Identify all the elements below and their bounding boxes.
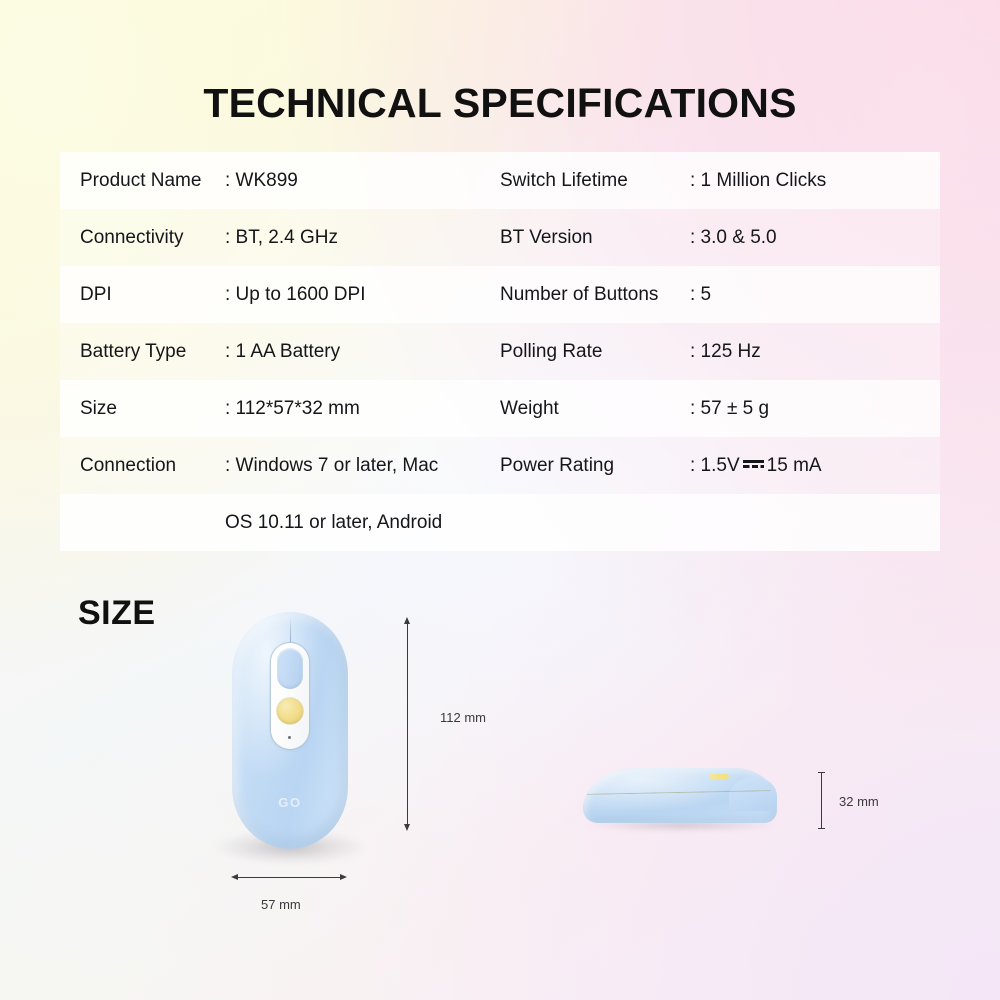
mouse-side-body [583, 768, 777, 823]
table-row: Size : 112*57*32 mm Weight : 57 ± 5 g [60, 380, 940, 437]
spec-value: : 57 ± 5 g [690, 398, 940, 420]
mouse-side-accent [709, 774, 729, 779]
spec-label: Size [60, 398, 225, 420]
table-row: Connection : Windows 7 or later, Mac Pow… [60, 437, 940, 494]
page-title: TECHNICAL SPECIFICATIONS [0, 80, 1000, 127]
dimension-arrow-right-icon [340, 874, 347, 880]
spec-label: Polling Rate [500, 341, 690, 363]
spec-label: Connectivity [60, 227, 225, 249]
dimension-cap-bottom-icon [818, 828, 825, 829]
mouse-scroll-wheel [277, 648, 303, 689]
power-rating-prefix: : 1.5V [690, 455, 740, 477]
dimension-line-depth [821, 773, 822, 828]
spec-value: : Windows 7 or later, Mac [225, 455, 500, 477]
spec-value-continuation: OS 10.11 or later, Android [225, 512, 500, 534]
mouse-top-body: GO [232, 612, 348, 849]
mouse-side-seam-line [587, 790, 771, 818]
spec-value: : BT, 2.4 GHz [225, 227, 500, 249]
dimension-cap-top-icon [818, 772, 825, 773]
spec-value: : 112*57*32 mm [225, 398, 500, 420]
dimension-arrow-left-icon [231, 874, 238, 880]
spec-value: : 1 Million Clicks [690, 170, 940, 192]
dimension-label-width: 57 mm [261, 897, 301, 912]
dimension-line-height [407, 624, 408, 824]
table-row: Product Name : WK899 Switch Lifetime : 1… [60, 152, 940, 209]
spec-label: DPI [60, 284, 225, 306]
product-logo: GO [232, 795, 348, 810]
spec-value-power-rating: : 1.5V 15 mA [690, 455, 940, 477]
table-row: Connectivity : BT, 2.4 GHz BT Version : … [60, 209, 940, 266]
spec-value: : 1 AA Battery [225, 341, 500, 363]
size-section-heading: SIZE [78, 594, 156, 633]
mouse-top-view: GO [232, 612, 348, 852]
spec-label: Switch Lifetime [500, 170, 690, 192]
spec-value: : WK899 [225, 170, 500, 192]
dimension-arrow-up-icon [404, 617, 410, 624]
dimension-line-width [238, 877, 340, 878]
spec-label: Number of Buttons [500, 284, 690, 306]
spec-value: : 125 Hz [690, 341, 940, 363]
dc-power-symbol-icon [743, 458, 764, 471]
specifications-table: Product Name : WK899 Switch Lifetime : 1… [60, 152, 940, 551]
spec-label: Weight [500, 398, 690, 420]
dimension-label-height: 112 mm [440, 710, 486, 725]
mouse-indicator-dot [288, 736, 291, 739]
spec-value: : 3.0 & 5.0 [690, 227, 940, 249]
spec-label: Connection [60, 455, 225, 477]
spec-label: Power Rating [500, 455, 690, 477]
spec-label: Product Name [60, 170, 225, 192]
table-row: DPI : Up to 1600 DPI Number of Buttons :… [60, 266, 940, 323]
spec-label: Battery Type [60, 341, 225, 363]
dimension-label-depth: 32 mm [839, 794, 879, 809]
spec-value: : Up to 1600 DPI [225, 284, 500, 306]
spec-value: : 5 [690, 284, 940, 306]
mouse-side-view [583, 768, 779, 830]
power-rating-suffix: 15 mA [767, 455, 822, 477]
table-row: Battery Type : 1 AA Battery Polling Rate… [60, 323, 940, 380]
dimension-arrow-down-icon [404, 824, 410, 831]
spec-label: BT Version [500, 227, 690, 249]
table-row: OS 10.11 or later, Android [60, 494, 940, 551]
mouse-dpi-button [277, 698, 303, 724]
